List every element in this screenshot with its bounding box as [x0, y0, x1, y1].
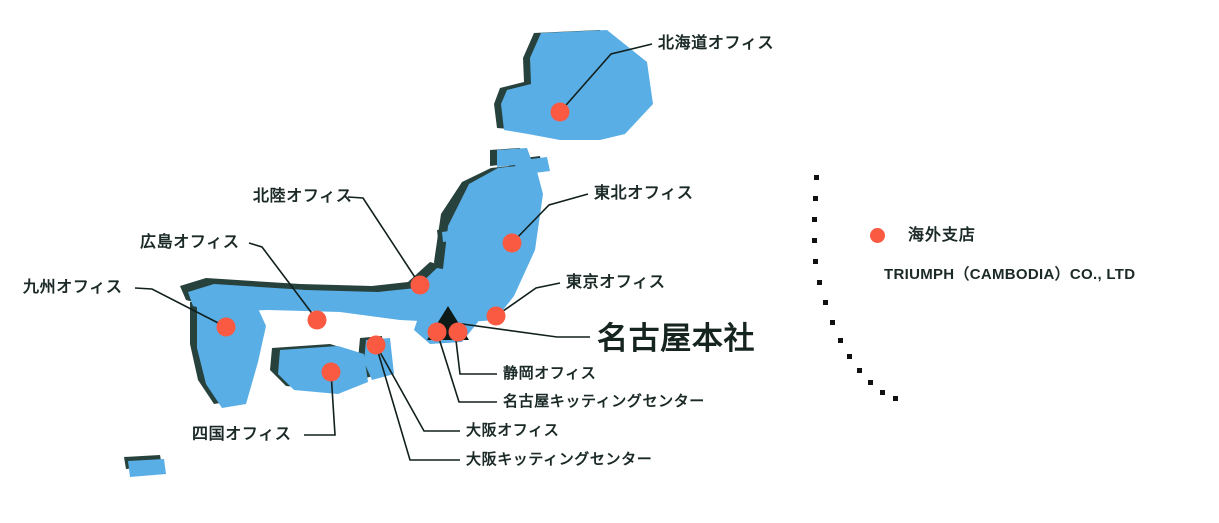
marker-shizuoka[interactable] [449, 323, 468, 342]
marker-hiroshima[interactable] [308, 311, 327, 330]
label-tokyo: 東京オフィス [566, 275, 666, 291]
kyushu-north-tip [248, 294, 264, 306]
marker-kyushu[interactable] [217, 318, 236, 337]
label-hokuriku: 北陸オフィス [253, 189, 353, 205]
marker-shikoku[interactable] [322, 363, 341, 382]
japan-office-map-figure: 北海道オフィス 東北オフィス 北陸オフィス 広島オフィス 九州オフィス 東京オフ… [0, 0, 1219, 523]
marker-hokuriku[interactable] [411, 276, 430, 295]
label-hokkaido: 北海道オフィス [658, 36, 774, 52]
legend-company-name: TRIUMPH（CAMBODIA）CO., LTD [884, 267, 1135, 282]
markers-layer [217, 103, 570, 382]
label-hiroshima: 広島オフィス [140, 235, 240, 251]
marker-hokkaido[interactable] [551, 103, 570, 122]
legend-overseas-dot-icon [870, 228, 885, 243]
okinawa-landmass [128, 459, 166, 477]
page-title-nagoya-hq: 名古屋本社 [597, 323, 755, 354]
map-graphic [0, 0, 1219, 523]
marker-tohoku[interactable] [503, 234, 522, 253]
legend-overseas-label: 海外支店 [908, 228, 976, 244]
marker-osaka[interactable] [367, 336, 386, 355]
marker-tokyo[interactable] [487, 307, 506, 326]
sado-island [442, 230, 459, 242]
label-osaka-kitting: 大阪キッティングセンター [466, 452, 652, 467]
marker-nagoya-kitting[interactable] [428, 323, 447, 342]
label-shikoku: 四国オフィス [192, 427, 292, 443]
dotted-arc-divider [812, 175, 898, 401]
label-tohoku: 東北オフィス [594, 186, 694, 202]
label-shizuoka: 静岡オフィス [503, 366, 596, 381]
label-nagoya-kitting: 名古屋キッティングセンター [503, 394, 705, 409]
label-kyushu: 九州オフィス [23, 280, 123, 296]
leader-hokuriku [348, 197, 420, 285]
label-osaka: 大阪オフィス [466, 423, 559, 438]
